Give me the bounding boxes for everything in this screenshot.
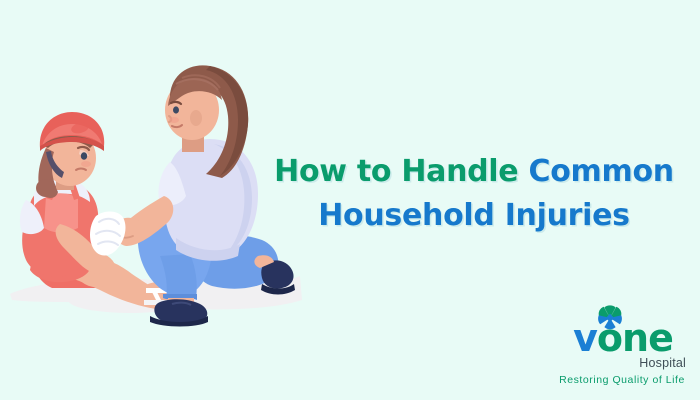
headline-line-1: How to Handle Common [268,150,680,194]
headline-segment-blue-2: Household Injuries [318,198,630,233]
bandage-gauze-icon [90,212,125,256]
logo-letter-v: v [573,316,597,360]
logo-subtitle: Hospital [556,356,686,370]
logo-lockup: vone [556,304,690,360]
headline-segment-green: How to Handle [274,154,528,189]
page-title: How to Handle Common Household Injuries [268,150,680,238]
headline-segment-blue: Common [529,154,674,189]
headline-line-2: Household Injuries [268,194,680,238]
logo-tagline: Restoring Quality of Life [556,374,688,386]
woman-shoe-back-icon [261,260,295,294]
brand-logo[interactable]: vone Hospital Restoring Quality of Life [556,304,690,394]
logo-word-one: one [597,316,673,360]
banner-root: How to Handle Common Household Injuries [0,0,700,400]
logo-wordmark: vone [556,316,690,360]
